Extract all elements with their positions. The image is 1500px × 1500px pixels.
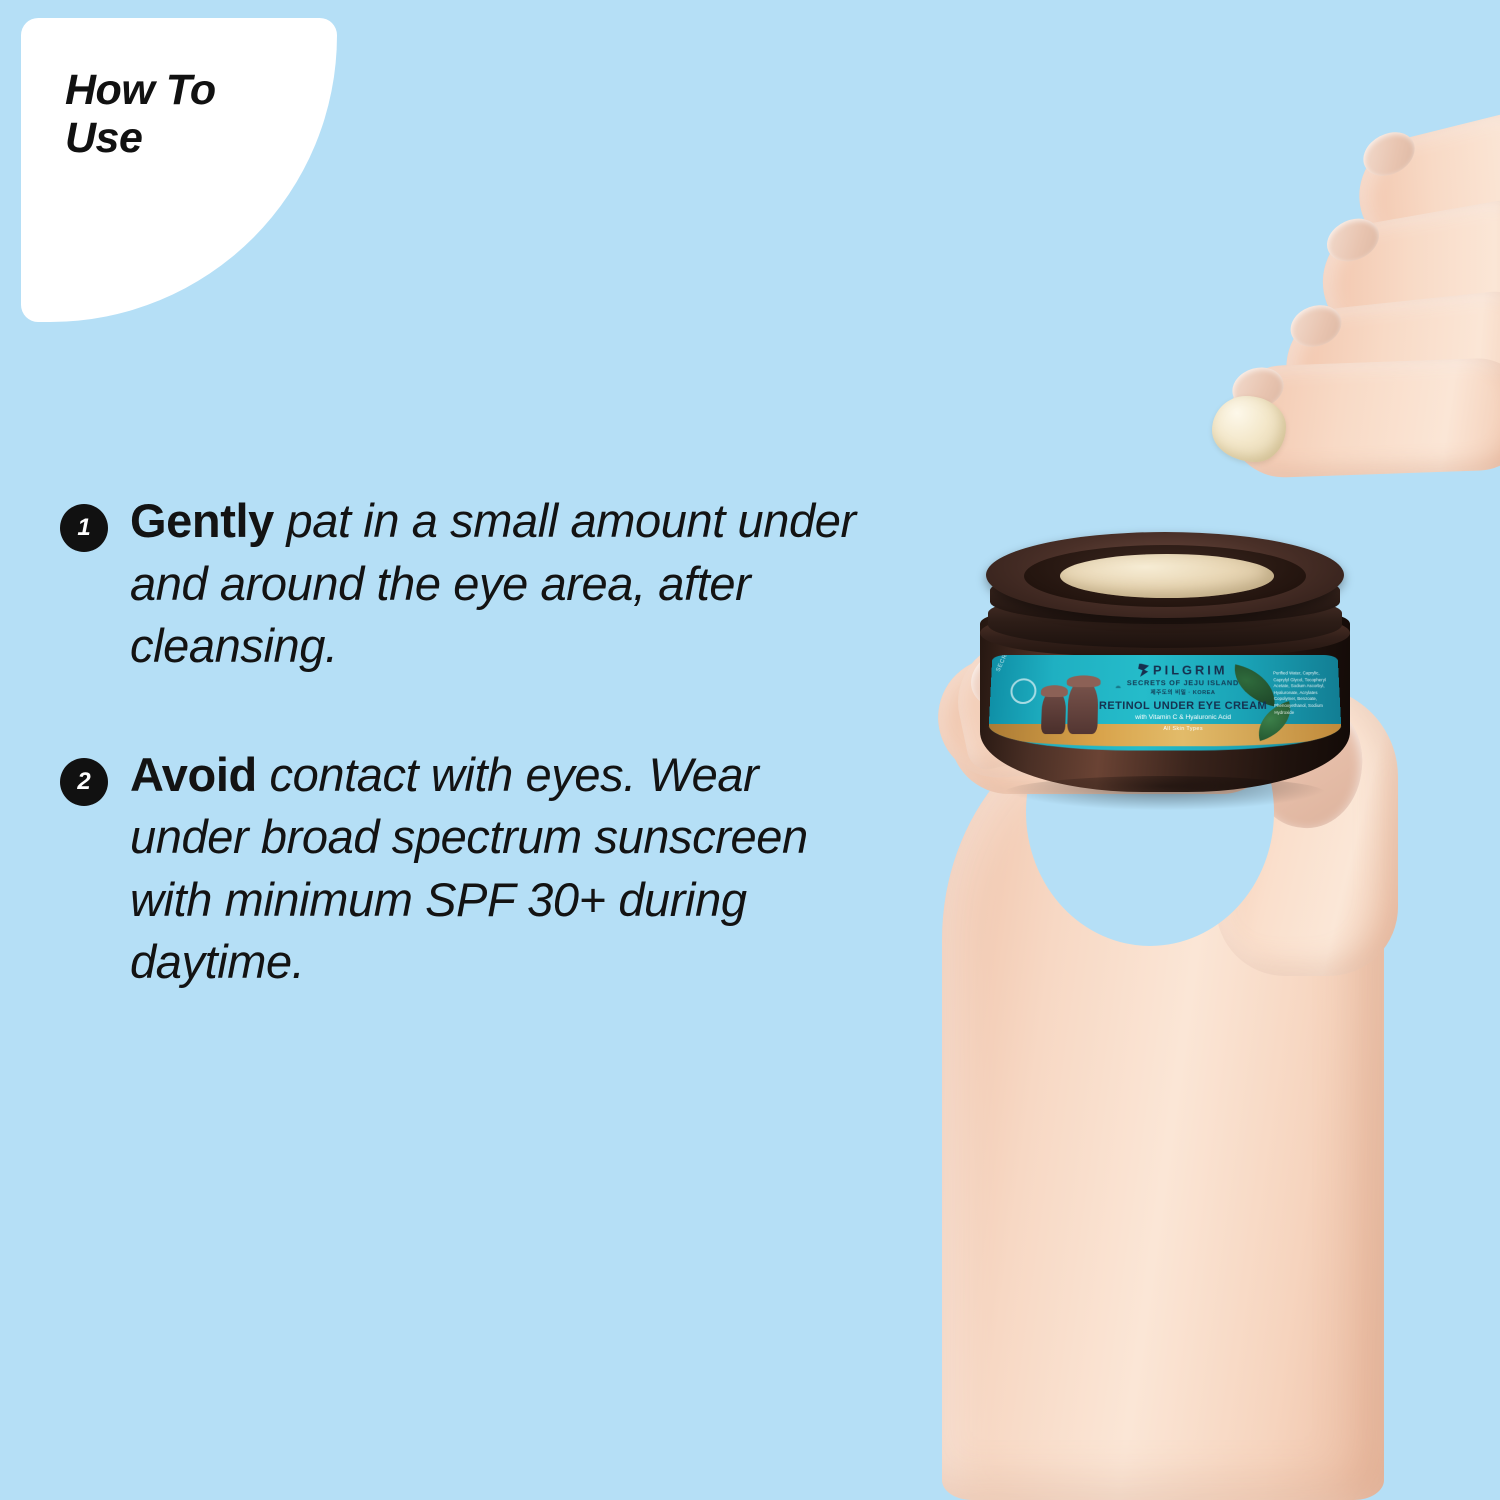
lower-hand: SECRETS OF JEJU PILGRIM SECRETS OF JEJU … [830, 500, 1500, 1500]
step-text: Avoid contact with eyes. Wear under broa… [130, 744, 860, 994]
brand-name: PILGRIM [1153, 663, 1228, 678]
page-title: How To Use [65, 66, 216, 162]
instructions-list: 1 Gently pat in a small amount under and… [60, 490, 860, 1060]
step-number-badge: 1 [60, 504, 108, 552]
product-skin-types: All Skin Types [1083, 726, 1283, 732]
product-label: SECRETS OF JEJU PILGRIM SECRETS OF JEJU … [988, 655, 1343, 750]
ingredients-list: Purified Water, Caprylic, Caprylyl Glyco… [1273, 671, 1334, 737]
step-lead: Gently [130, 494, 274, 547]
step-lead: Avoid [130, 748, 257, 801]
label-origin: 제주도의 비밀 · KOREA [1084, 688, 1282, 696]
statue-small [1041, 690, 1066, 734]
cream-dollop [1212, 396, 1286, 462]
product-name: RETINOL UNDER EYE CREAM [1084, 700, 1283, 712]
seal-icon [1010, 678, 1037, 704]
list-item: 1 Gently pat in a small amount under and… [60, 490, 860, 678]
upper-hand [1210, 100, 1500, 480]
cream-surface [1060, 554, 1274, 598]
product-subtitle: with Vitamin C & Hyaluronic Acid [1084, 714, 1283, 721]
jar-shadow [1004, 776, 1326, 810]
product-jar: SECRETS OF JEJU PILGRIM SECRETS OF JEJU … [980, 532, 1350, 822]
label-center-block: PILGRIM SECRETS OF JEJU ISLAND 제주도의 비밀 ·… [1083, 663, 1283, 732]
brand-row: PILGRIM [1085, 663, 1282, 678]
step-number-badge: 2 [60, 758, 108, 806]
statue-hat [1041, 685, 1068, 697]
product-photo: SECRETS OF JEJU PILGRIM SECRETS OF JEJU … [830, 0, 1500, 1500]
label-side-text: SECRETS OF JEJU [996, 655, 1027, 673]
how-to-use-card: How To Use [21, 18, 337, 322]
pilgrim-logo-icon [1138, 663, 1149, 677]
step-text: Gently pat in a small amount under and a… [130, 490, 860, 678]
list-item: 2 Avoid contact with eyes. Wear under br… [60, 744, 860, 994]
label-tagline: SECRETS OF JEJU ISLAND [1084, 678, 1281, 687]
